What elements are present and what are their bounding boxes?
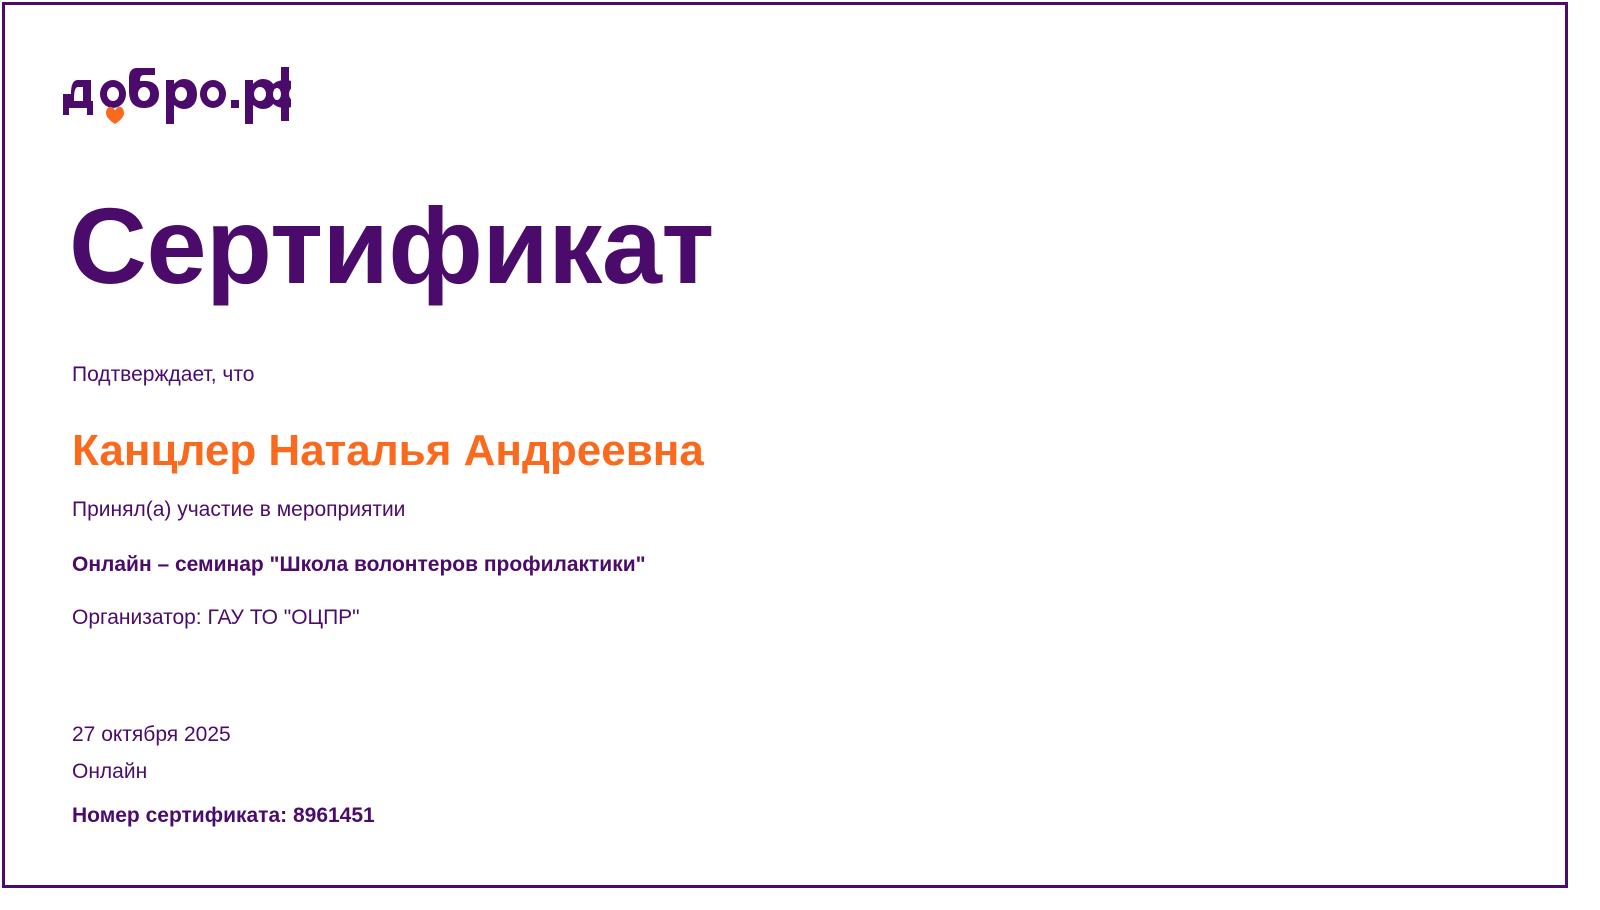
certificate-meta: 27 октября 2025 Онлайн Номер сертификата… bbox=[72, 716, 772, 829]
page-title: Сертификат bbox=[69, 191, 714, 301]
issue-date: 27 октября 2025 bbox=[72, 716, 772, 753]
participation-text: Принял(а) участие в мероприятии bbox=[72, 496, 405, 523]
recipient-name: Канцлер Наталья Андреевна bbox=[72, 423, 704, 478]
event-name: Онлайн – семинар "Школа волонтеров профи… bbox=[72, 551, 646, 578]
dobro-rf-logo-icon bbox=[61, 63, 291, 125]
heart-icon bbox=[106, 107, 124, 124]
certificate-number: Номер сертификата: 8961451 bbox=[72, 802, 772, 829]
organizer-text: Организатор: ГАУ ТО "ОЦПР" bbox=[72, 604, 360, 631]
lead-text: Подтверждает, что bbox=[72, 361, 254, 388]
event-location: Онлайн bbox=[72, 753, 772, 790]
certificate-card: Сертификат Подтверждает, что Канцлер Нат… bbox=[2, 2, 1568, 888]
brand-logo bbox=[61, 63, 301, 127]
